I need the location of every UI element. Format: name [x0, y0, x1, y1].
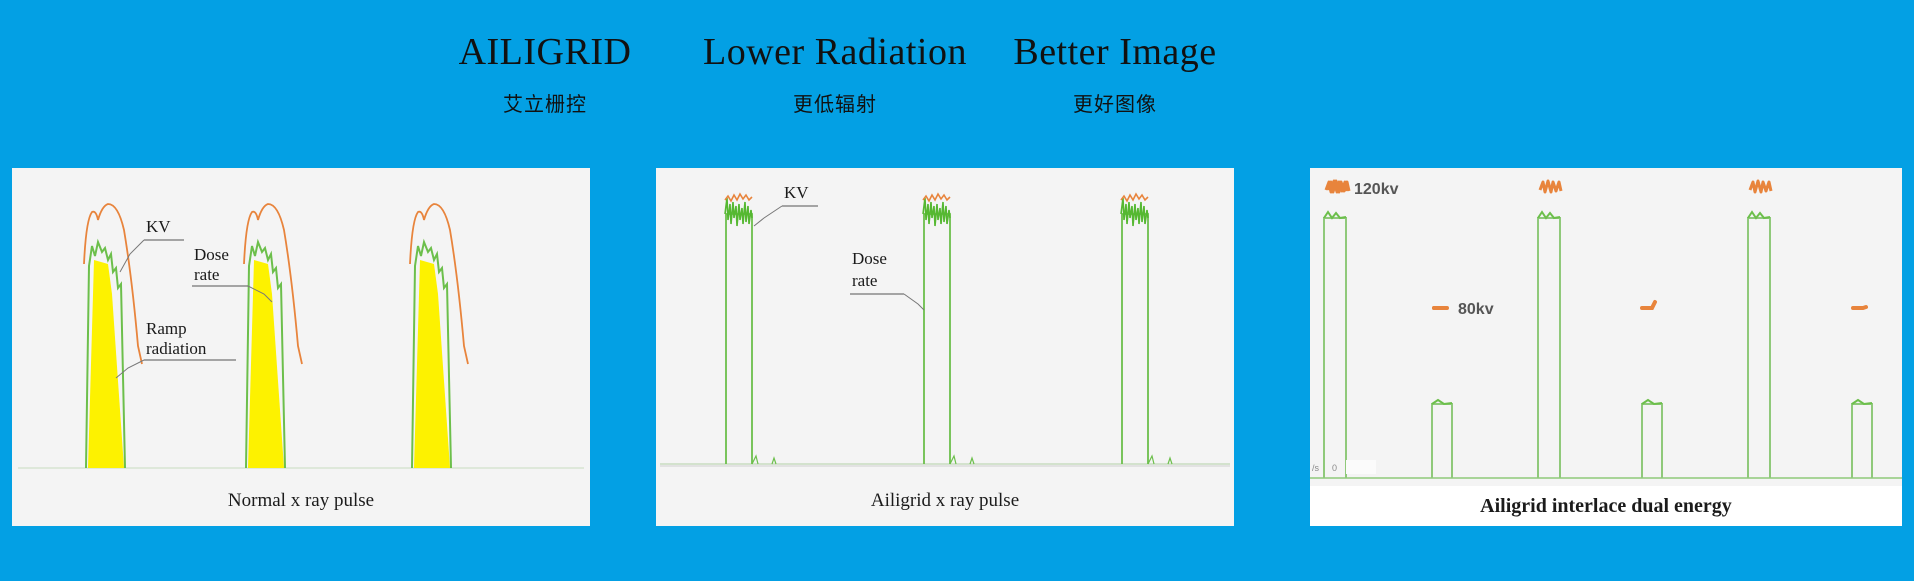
ramp-fill-1 — [88, 260, 124, 468]
axis-zero-label: 0 — [1332, 463, 1337, 473]
ramp-fill-2 — [248, 260, 284, 468]
label-dose-line1: Dose — [194, 245, 229, 264]
kv-noise-cap-1 — [725, 194, 752, 201]
square-pulse-1 — [725, 194, 776, 464]
square-pulse-3 — [1121, 194, 1172, 464]
label-dose-line2: rate — [194, 265, 219, 284]
pulse-80kv-1 — [1432, 308, 1452, 478]
kv-marker-low-2 — [1642, 302, 1655, 308]
panel-caption-2: Ailigrid x ray pulse — [656, 476, 1234, 526]
annotation-dose-rate-2: Dose rate — [850, 249, 924, 310]
kv-noise-cap-2 — [923, 194, 950, 201]
label-kv-text: KV — [146, 217, 171, 236]
dose-noise-cap-2 — [923, 198, 950, 226]
pulse-80kv-2 — [1642, 302, 1662, 478]
label-dose-line2-2: rate — [852, 271, 877, 290]
plot-area-3: 120kv 80kv /s 0 — [1310, 168, 1902, 486]
annotation-kv-2: KV — [754, 183, 818, 226]
chart-svg-dual-energy: 120kv 80kv /s 0 — [1310, 168, 1902, 486]
legend-label-80kv: 80kv — [1458, 301, 1494, 318]
chart-svg-ailigrid-pulse: KV Dose rate — [656, 168, 1234, 476]
kv-noise-cap-3 — [1121, 194, 1148, 201]
header-title-en-3: Better Image — [940, 32, 1290, 74]
chart-svg-normal-pulse: KV Dose rate Ramp radiation — [12, 168, 590, 476]
pulse-120kv-1 — [1324, 181, 1349, 478]
header-column-better-image: Better Image 更好图像 — [940, 32, 1290, 117]
annotation-ramp-radiation-1: Ramp radiation — [116, 319, 236, 378]
pulse-120kv-2 — [1538, 181, 1561, 478]
header-title-cn-3: 更好图像 — [940, 88, 1290, 117]
dose-noise-cap-3 — [1121, 198, 1148, 226]
panel-caption-1: Normal x ray pulse — [12, 476, 590, 526]
chart-panel-ailigrid-interlace-dual-energy: 120kv 80kv /s 0 Ailigrid interlace dual … — [1310, 168, 1902, 526]
label-ramp-line1: Ramp — [146, 319, 187, 338]
header: AILIGRID 艾立栅控 Lower Radiation 更低辐射 Bette… — [0, 0, 1914, 140]
axis-unit-label: /s — [1312, 463, 1320, 473]
pulse-120kv-3 — [1748, 181, 1771, 478]
panel-caption-3: Ailigrid interlace dual energy — [1310, 486, 1902, 526]
label-dose-line1-2: Dose — [852, 249, 887, 268]
legend-label-120kv: 120kv — [1354, 181, 1399, 198]
axis-tick-block — [1346, 460, 1376, 474]
label-ramp-line2: radiation — [146, 339, 207, 358]
chart-panel-ailigrid-x-ray-pulse: KV Dose rate Ailigrid x ray pulse — [656, 168, 1234, 526]
kv-marker-high-2 — [1540, 181, 1561, 192]
dose-noise-cap-1 — [725, 198, 752, 226]
plot-area-2: KV Dose rate — [656, 168, 1234, 476]
square-pulse-2 — [923, 194, 974, 464]
ramp-fill-3 — [414, 260, 450, 468]
plot-area-1: KV Dose rate Ramp radiation — [12, 168, 590, 476]
legend-80kv: 80kv — [1434, 301, 1494, 318]
kv-marker-low-3 — [1853, 307, 1866, 308]
kv-marker-high-3 — [1750, 181, 1771, 192]
chart-panel-normal-x-ray-pulse: KV Dose rate Ramp radiation Normal x ray… — [12, 168, 590, 526]
label-kv-text-2: KV — [784, 183, 809, 202]
pulse-80kv-3 — [1852, 307, 1872, 478]
